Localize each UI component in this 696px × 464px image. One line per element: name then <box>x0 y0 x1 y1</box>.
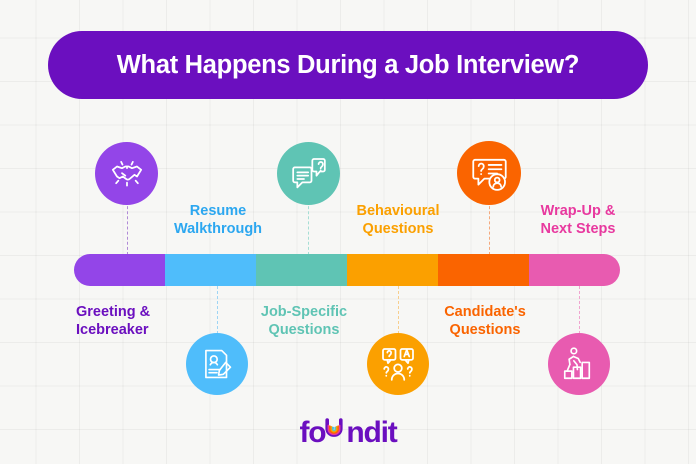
title-banner: What Happens During a Job Interview? <box>48 31 648 99</box>
connector-wrap-up <box>579 286 580 334</box>
connector-candidate-questions <box>489 201 490 255</box>
connector-job-specific <box>308 201 309 255</box>
logo-text-after: ndit <box>346 416 396 450</box>
stage-label-candidate-questions: Candidate's Questions <box>428 303 542 339</box>
icon-circle-wrap-up[interactable] <box>548 333 610 395</box>
foundit-logo[interactable]: fo ndit <box>0 409 696 449</box>
bar-segment-resume[interactable] <box>165 254 256 286</box>
icon-circle-job-specific[interactable] <box>277 142 340 205</box>
person-climbing-steps-icon <box>560 345 598 383</box>
icon-circle-behavioural[interactable] <box>367 333 429 395</box>
bar-segment-behavioural[interactable] <box>347 254 438 286</box>
icon-circle-candidate-questions[interactable] <box>457 141 521 205</box>
page-title: What Happens During a Job Interview? <box>117 51 579 80</box>
handshake-icon <box>107 154 147 194</box>
connector-behavioural <box>398 286 399 334</box>
infographic-canvas: What Happens During a Job Interview? <box>0 0 696 464</box>
logo-text-before: fo <box>299 416 325 450</box>
bar-segment-job-specific[interactable] <box>256 254 347 286</box>
stage-label-resume: Resume Walkthrough <box>162 202 274 238</box>
bar-segment-wrap-up[interactable] <box>529 254 620 286</box>
connector-greeting <box>127 201 128 255</box>
stage-label-behavioural: Behavioural Questions <box>341 202 455 238</box>
stage-label-job-specific: Job-Specific Questions <box>248 303 360 339</box>
bar-segment-candidate-questions[interactable] <box>438 254 529 286</box>
logo-rainbow-u <box>325 412 346 442</box>
stage-label-greeting: Greeting & Icebreaker <box>76 303 150 339</box>
qa-bubbles-person-icon <box>378 344 418 384</box>
icon-circle-greeting[interactable] <box>95 142 158 205</box>
stage-label-wrap-up: Wrap-Up & Next Steps <box>521 202 635 238</box>
speech-bubbles-question-icon <box>289 154 329 194</box>
question-bubble-avatar-icon <box>469 153 510 194</box>
bar-segment-greeting[interactable] <box>74 254 165 286</box>
resume-document-pencil-icon <box>198 345 236 383</box>
timeline-bar <box>74 254 620 286</box>
icon-circle-resume[interactable] <box>186 333 248 395</box>
connector-resume <box>217 286 218 334</box>
